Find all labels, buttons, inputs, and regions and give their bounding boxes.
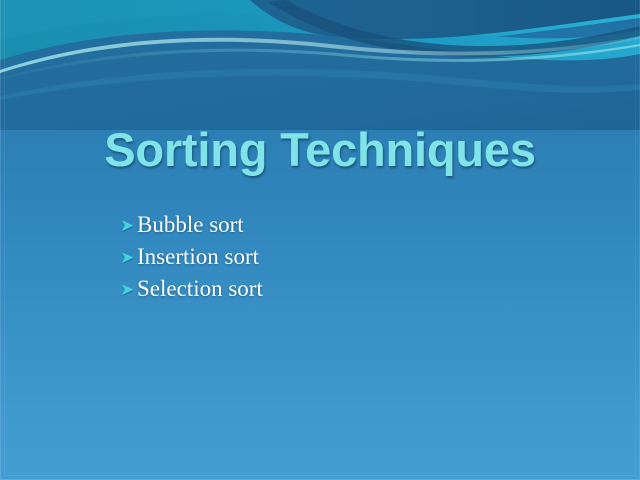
bullet-list: ➤ Bubble sort ➤ Insertion sort ➤ Selecti…: [120, 210, 540, 306]
presentation-slide: Sorting Techniques ➤ Bubble sort ➤ Inser…: [0, 0, 640, 480]
arrowhead-right-bullet-icon: ➤: [120, 217, 137, 234]
flow-swoosh-artwork: [0, 0, 640, 130]
slide-title: Sorting Techniques: [0, 121, 640, 179]
arrowhead-right-bullet-icon: ➤: [120, 281, 137, 298]
list-item-label: Insertion sort: [137, 242, 259, 272]
list-item-label: Selection sort: [137, 274, 263, 304]
list-item: ➤ Bubble sort: [120, 210, 540, 242]
list-item: ➤ Selection sort: [120, 274, 540, 306]
list-item: ➤ Insertion sort: [120, 242, 540, 274]
arrowhead-right-bullet-icon: ➤: [120, 249, 137, 266]
list-item-label: Bubble sort: [137, 210, 244, 240]
